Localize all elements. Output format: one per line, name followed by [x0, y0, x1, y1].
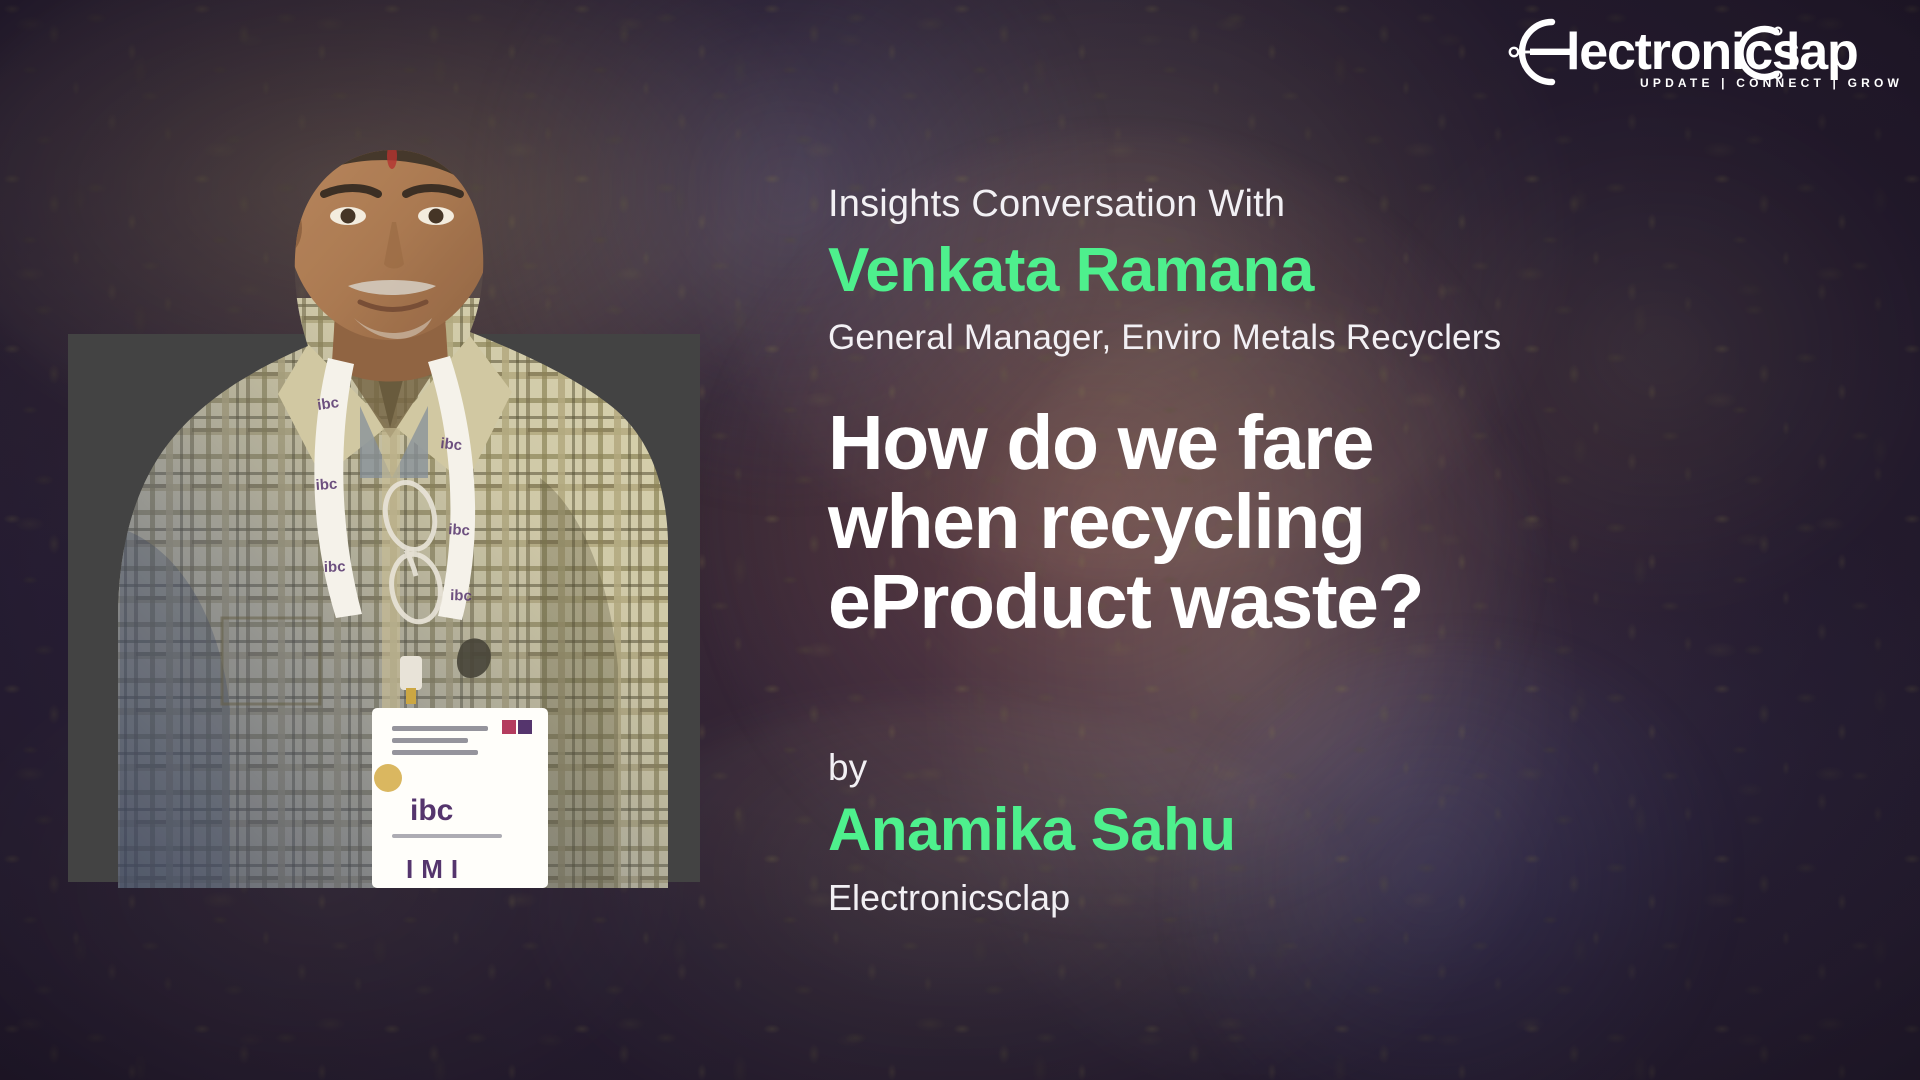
guest-name: Venkata Ramana [828, 238, 1314, 303]
guest-role: General Manager, Enviro Metals Recyclers [828, 318, 1501, 358]
promo-poster: lectronics lap UPDATE | CONNECT | GROW [0, 0, 1920, 1080]
guest-portrait-photo: ibc ibc ibc ibc ibc ibc [110, 148, 670, 888]
eyebrow-text: Insights Conversation With [828, 183, 1285, 226]
copy-column: Insights Conversation With Venkata Raman… [828, 0, 1848, 1080]
byline-label: by [828, 747, 867, 789]
author-name: Anamika Sahu [828, 798, 1235, 861]
headline: How do we fare when recycling eProduct w… [828, 404, 1638, 642]
headline-line-3: eProduct waste? [828, 563, 1638, 642]
author-organization: Electronicsclap [828, 877, 1070, 919]
headline-line-1: How do we fare [828, 404, 1638, 483]
headline-line-2: when recycling [828, 483, 1638, 562]
